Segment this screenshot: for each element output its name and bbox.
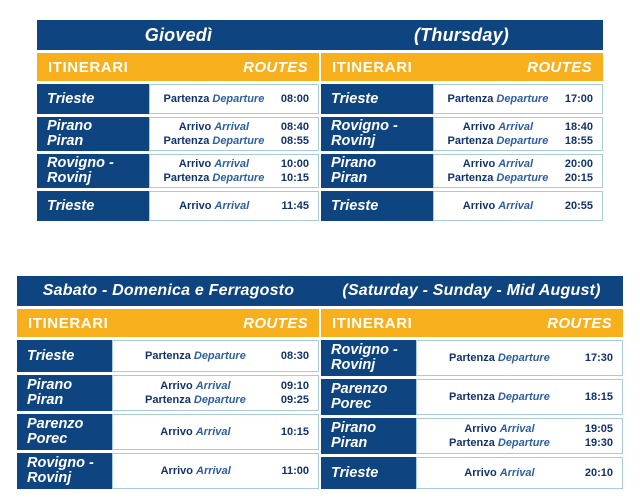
- time-line: ArrivoArrival08:40: [157, 120, 309, 134]
- timetable-half-outbound: TriestePartenzaDeparture08:30PiranoPiran…: [17, 337, 319, 489]
- timetable-thursday: Giovedì(Thursday)ITINERARIROUTESITINERAR…: [37, 20, 603, 221]
- times-cell: PartenzaDeparture17:30: [416, 340, 623, 376]
- time-label: PartenzaDeparture: [120, 393, 271, 407]
- station-name-line: Rovinj: [331, 358, 416, 373]
- time-value: 11:00: [281, 464, 309, 478]
- time-label-italian: Partenza: [145, 350, 191, 362]
- time-value: 08:30: [281, 349, 309, 363]
- table-row: PiranoPiranArrivoArrival08:40PartenzaDep…: [37, 117, 319, 151]
- time-label: PartenzaDeparture: [441, 171, 555, 185]
- time-label-italian: Partenza: [449, 391, 495, 403]
- table-row: PiranoPiranArrivoArrival20:00PartenzaDep…: [321, 154, 603, 188]
- station-name-line: Piran: [47, 134, 149, 149]
- station-name-line: Rovigno -: [331, 119, 433, 134]
- table-row: Rovigno -RovinjArrivoArrival18:40Partenz…: [321, 117, 603, 151]
- timetable-half-return: Rovigno -RovinjPartenzaDeparture17:30Par…: [321, 337, 623, 489]
- table-row: TriesteArrivoArrival20:10: [321, 457, 623, 489]
- station-name-line: Trieste: [331, 466, 416, 481]
- time-line: PartenzaDeparture19:30: [424, 436, 613, 450]
- time-label-italian: Partenza: [164, 172, 210, 184]
- station-name-line: Porec: [331, 397, 416, 412]
- table-row: TriesteArrivoArrival11:45: [37, 191, 319, 221]
- time-label: PartenzaDeparture: [157, 134, 271, 148]
- column-header-right: ITINERARIROUTES: [321, 309, 623, 337]
- station-name-cell: PiranoPiran: [321, 154, 433, 188]
- time-line: ArrivoArrival10:15: [120, 425, 309, 439]
- times-cell: ArrivoArrival18:40PartenzaDeparture18:55: [433, 117, 603, 151]
- station-name-line: Rovigno -: [331, 343, 416, 358]
- time-label-italian: Partenza: [449, 437, 495, 449]
- station-name-line: Trieste: [47, 92, 149, 107]
- time-value: 17:30: [585, 351, 613, 365]
- time-value: 10:15: [281, 425, 309, 439]
- station-name-cell: Trieste: [321, 457, 416, 489]
- time-label-english: Arrival: [498, 121, 533, 133]
- table-row: TriesteArrivoArrival20:55: [321, 191, 603, 221]
- times-cell: ArrivoArrival08:40PartenzaDeparture08:55: [149, 117, 319, 151]
- time-label: PartenzaDeparture: [441, 92, 555, 106]
- time-value: 08:00: [281, 92, 309, 106]
- time-label: PartenzaDeparture: [424, 436, 575, 450]
- time-value: 09:25: [281, 393, 309, 407]
- station-name-line: Pirano: [27, 378, 112, 393]
- time-line: PartenzaDeparture18:15: [424, 390, 613, 404]
- time-label: ArrivoArrival: [441, 120, 555, 134]
- time-label-english: Departure: [194, 350, 246, 362]
- time-value: 09:10: [281, 379, 309, 393]
- column-header-row: ITINERARIROUTESITINERARIROUTES: [17, 309, 623, 337]
- station-name-cell: ParenzoPorec: [321, 379, 416, 415]
- column-header-left: ITINERARIROUTES: [37, 53, 319, 81]
- station-name-cell: Rovigno -Rovinj: [321, 340, 416, 376]
- table-row: Rovigno -RovinjPartenzaDeparture17:30: [321, 340, 623, 376]
- time-line: PartenzaDeparture17:30: [424, 351, 613, 365]
- time-label-english: Departure: [498, 391, 550, 403]
- time-value: 19:30: [585, 436, 613, 450]
- time-label: PartenzaDeparture: [157, 171, 271, 185]
- time-value: 10:15: [281, 171, 309, 185]
- time-value: 17:00: [565, 92, 593, 106]
- time-line: PartenzaDeparture08:00: [157, 92, 309, 106]
- title-english: (Saturday - Sunday - Mid August): [320, 276, 623, 306]
- time-label-italian: Arrivo: [464, 467, 496, 479]
- time-label: PartenzaDeparture: [441, 134, 555, 148]
- time-label: ArrivoArrival: [157, 157, 271, 171]
- time-label: ArrivoArrival: [120, 464, 271, 478]
- times-cell: ArrivoArrival19:05PartenzaDeparture19:30: [416, 418, 623, 454]
- table-row: ParenzoPorecPartenzaDeparture18:15: [321, 379, 623, 415]
- time-label-english: Departure: [212, 93, 264, 105]
- time-label: ArrivoArrival: [424, 422, 575, 436]
- title-italian: Sabato - Domenica e Ferragosto: [17, 276, 320, 306]
- timetable-weekend: Sabato - Domenica e Ferragosto(Saturday …: [17, 276, 623, 489]
- time-value: 20:10: [585, 466, 613, 480]
- station-name-cell: Trieste: [321, 191, 433, 221]
- station-name-line: Parenzo: [27, 417, 112, 432]
- station-name-cell: Trieste: [37, 84, 149, 114]
- time-line: ArrivoArrival11:45: [157, 199, 309, 213]
- time-label-english: Arrival: [196, 380, 231, 392]
- time-value: 10:00: [281, 157, 309, 171]
- timetable-body: TriestePartenzaDeparture08:00PiranoPiran…: [37, 81, 603, 221]
- time-value: 18:15: [585, 390, 613, 404]
- time-label-english: Arrival: [498, 200, 533, 212]
- time-value: 20:00: [565, 157, 593, 171]
- times-cell: ArrivoArrival11:45: [149, 191, 319, 221]
- column-header-row: ITINERARIROUTESITINERARIROUTES: [37, 53, 603, 81]
- time-label: ArrivoArrival: [120, 379, 271, 393]
- time-value: 20:15: [565, 171, 593, 185]
- time-label-english: Arrival: [500, 467, 535, 479]
- time-label-english: Arrival: [215, 200, 250, 212]
- time-label-english: Departure: [498, 437, 550, 449]
- header-label-itinerari: ITINERARI: [48, 59, 128, 76]
- time-label-italian: Partenza: [164, 135, 210, 147]
- header-label-routes: ROUTES: [527, 59, 592, 76]
- time-value: 18:55: [565, 134, 593, 148]
- time-label-italian: Partenza: [448, 135, 494, 147]
- station-name-line: Piran: [27, 393, 112, 408]
- time-line: PartenzaDeparture10:15: [157, 171, 309, 185]
- time-label-english: Departure: [498, 352, 550, 364]
- time-line: ArrivoArrival10:00: [157, 157, 309, 171]
- station-name-line: Rovinj: [27, 471, 112, 486]
- station-name-line: Rovinj: [47, 171, 149, 186]
- time-label-english: Arrival: [196, 426, 231, 438]
- time-label-english: Departure: [496, 135, 548, 147]
- table-row: ParenzoPorecArrivoArrival10:15: [17, 414, 319, 450]
- timetable-body: TriestePartenzaDeparture08:30PiranoPiran…: [17, 337, 623, 489]
- time-label-italian: Arrivo: [464, 423, 496, 435]
- time-line: ArrivoArrival20:10: [424, 466, 613, 480]
- title-bar: Sabato - Domenica e Ferragosto(Saturday …: [17, 276, 623, 306]
- time-label-italian: Partenza: [448, 172, 494, 184]
- station-name-line: Trieste: [331, 199, 433, 214]
- time-label: ArrivoArrival: [157, 120, 271, 134]
- column-header-right: ITINERARIROUTES: [321, 53, 603, 81]
- table-row: Rovigno -RovinjArrivoArrival10:00Partenz…: [37, 154, 319, 188]
- title-italian: Giovedì: [37, 20, 320, 50]
- time-label: PartenzaDeparture: [120, 349, 271, 363]
- time-value: 20:55: [565, 199, 593, 213]
- table-row: PiranoPiranArrivoArrival09:10PartenzaDep…: [17, 375, 319, 411]
- time-line: ArrivoArrival18:40: [441, 120, 593, 134]
- time-label-italian: Partenza: [164, 93, 210, 105]
- time-label-english: Arrival: [498, 158, 533, 170]
- title-english: (Thursday): [320, 20, 603, 50]
- time-value: 11:45: [281, 199, 309, 213]
- times-cell: ArrivoArrival10:15: [112, 414, 319, 450]
- title-bar: Giovedì(Thursday): [37, 20, 603, 50]
- station-name-line: Trieste: [47, 199, 149, 214]
- time-label: ArrivoArrival: [157, 199, 271, 213]
- station-name-line: Piran: [331, 171, 433, 186]
- column-header-left: ITINERARIROUTES: [17, 309, 319, 337]
- table-row: PiranoPiranArrivoArrival19:05PartenzaDep…: [321, 418, 623, 454]
- time-value: 08:40: [281, 120, 309, 134]
- time-label-english: Departure: [212, 172, 264, 184]
- timetable-half-return: TriestePartenzaDeparture17:00Rovigno -Ro…: [321, 81, 603, 221]
- station-name-line: Rovigno -: [47, 156, 149, 171]
- time-line: PartenzaDeparture08:55: [157, 134, 309, 148]
- time-line: ArrivoArrival20:00: [441, 157, 593, 171]
- time-line: PartenzaDeparture18:55: [441, 134, 593, 148]
- time-label-italian: Arrivo: [179, 121, 211, 133]
- station-name-line: Parenzo: [331, 382, 416, 397]
- table-row: Rovigno -RovinjArrivoArrival11:00: [17, 453, 319, 489]
- station-name-cell: Rovigno -Rovinj: [321, 117, 433, 151]
- time-line: ArrivoArrival19:05: [424, 422, 613, 436]
- station-name-cell: Trieste: [321, 84, 433, 114]
- header-label-routes: ROUTES: [547, 315, 612, 332]
- time-label-english: Arrival: [214, 121, 249, 133]
- time-label-english: Arrival: [214, 158, 249, 170]
- times-cell: PartenzaDeparture17:00: [433, 84, 603, 114]
- header-label-routes: ROUTES: [243, 315, 308, 332]
- station-name-cell: PiranoPiran: [37, 117, 149, 151]
- times-cell: PartenzaDeparture08:30: [112, 340, 319, 372]
- times-cell: ArrivoArrival20:55: [433, 191, 603, 221]
- station-name-line: Pirano: [331, 421, 416, 436]
- table-row: TriestePartenzaDeparture17:00: [321, 84, 603, 114]
- time-line: PartenzaDeparture17:00: [441, 92, 593, 106]
- station-name-line: Piran: [331, 436, 416, 451]
- time-label-english: Departure: [212, 135, 264, 147]
- time-label: ArrivoArrival: [441, 199, 555, 213]
- time-label: PartenzaDeparture: [424, 351, 575, 365]
- time-line: PartenzaDeparture08:30: [120, 349, 309, 363]
- time-label-italian: Arrivo: [160, 380, 192, 392]
- station-name-cell: Rovigno -Rovinj: [17, 453, 112, 489]
- time-value: 08:55: [281, 134, 309, 148]
- times-cell: ArrivoArrival11:00: [112, 453, 319, 489]
- time-label-italian: Arrivo: [463, 121, 495, 133]
- time-label: PartenzaDeparture: [424, 390, 575, 404]
- table-row: TriestePartenzaDeparture08:30: [17, 340, 319, 372]
- time-label-italian: Partenza: [448, 93, 494, 105]
- station-name-line: Rovinj: [331, 134, 433, 149]
- time-label-italian: Arrivo: [463, 158, 495, 170]
- time-line: ArrivoArrival20:55: [441, 199, 593, 213]
- header-label-itinerari: ITINERARI: [28, 315, 108, 332]
- times-cell: PartenzaDeparture08:00: [149, 84, 319, 114]
- timetable-half-outbound: TriestePartenzaDeparture08:00PiranoPiran…: [37, 81, 319, 221]
- time-label-italian: Arrivo: [160, 426, 192, 438]
- table-row: TriestePartenzaDeparture08:00: [37, 84, 319, 114]
- time-label: PartenzaDeparture: [157, 92, 271, 106]
- time-label-english: Arrival: [500, 423, 535, 435]
- time-label-italian: Arrivo: [179, 200, 211, 212]
- station-name-cell: Rovigno -Rovinj: [37, 154, 149, 188]
- times-cell: PartenzaDeparture18:15: [416, 379, 623, 415]
- time-label-italian: Partenza: [145, 394, 191, 406]
- station-name-cell: PiranoPiran: [321, 418, 416, 454]
- times-cell: ArrivoArrival10:00PartenzaDeparture10:15: [149, 154, 319, 188]
- time-line: PartenzaDeparture20:15: [441, 171, 593, 185]
- time-line: PartenzaDeparture09:25: [120, 393, 309, 407]
- times-cell: ArrivoArrival20:10: [416, 457, 623, 489]
- time-label: ArrivoArrival: [441, 157, 555, 171]
- time-label-english: Departure: [194, 394, 246, 406]
- time-label-italian: Partenza: [449, 352, 495, 364]
- time-label: ArrivoArrival: [424, 466, 575, 480]
- time-line: ArrivoArrival11:00: [120, 464, 309, 478]
- station-name-line: Trieste: [27, 349, 112, 364]
- station-name-line: Porec: [27, 432, 112, 447]
- time-line: ArrivoArrival09:10: [120, 379, 309, 393]
- station-name-line: Trieste: [331, 92, 433, 107]
- time-label-english: Departure: [496, 172, 548, 184]
- time-label-english: Arrival: [196, 465, 231, 477]
- time-label-italian: Arrivo: [463, 200, 495, 212]
- station-name-line: Pirano: [47, 119, 149, 134]
- time-label-italian: Arrivo: [179, 158, 211, 170]
- station-name-cell: ParenzoPorec: [17, 414, 112, 450]
- station-name-line: Rovigno -: [27, 456, 112, 471]
- header-label-routes: ROUTES: [243, 59, 308, 76]
- header-label-itinerari: ITINERARI: [332, 315, 412, 332]
- time-label-english: Departure: [496, 93, 548, 105]
- time-value: 18:40: [565, 120, 593, 134]
- header-label-itinerari: ITINERARI: [332, 59, 412, 76]
- station-name-cell: PiranoPiran: [17, 375, 112, 411]
- time-value: 19:05: [585, 422, 613, 436]
- station-name-line: Pirano: [331, 156, 433, 171]
- time-label-italian: Arrivo: [161, 465, 193, 477]
- times-cell: ArrivoArrival20:00PartenzaDeparture20:15: [433, 154, 603, 188]
- times-cell: ArrivoArrival09:10PartenzaDeparture09:25: [112, 375, 319, 411]
- station-name-cell: Trieste: [17, 340, 112, 372]
- time-label: ArrivoArrival: [120, 425, 271, 439]
- station-name-cell: Trieste: [37, 191, 149, 221]
